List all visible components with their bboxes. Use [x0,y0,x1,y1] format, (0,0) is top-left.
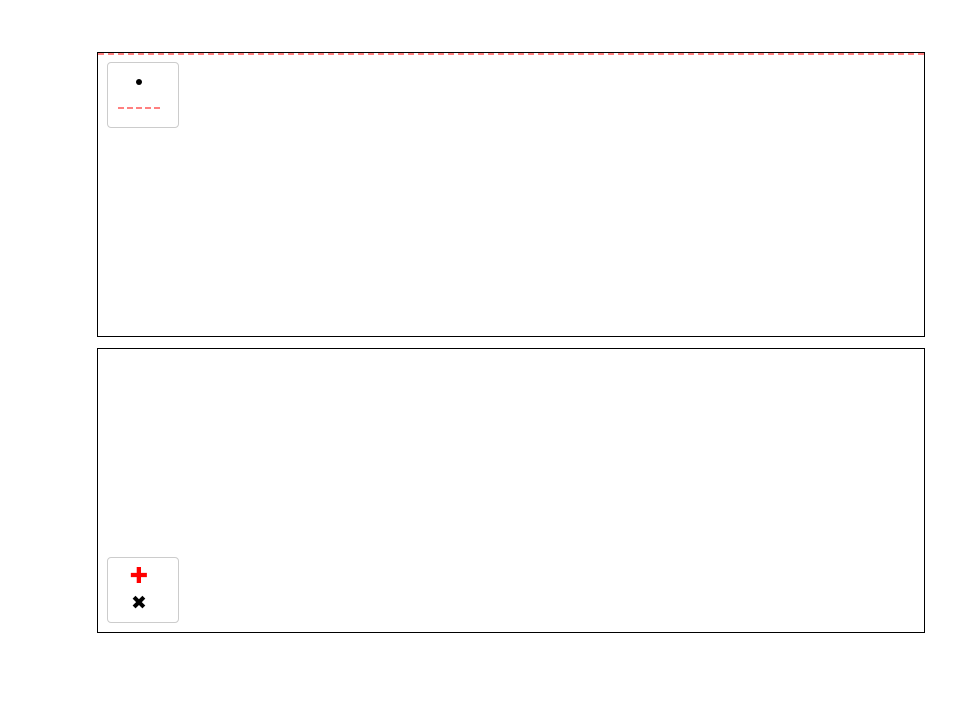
dot-marker-icon [116,71,162,93]
top-panel-plot-area [98,53,924,336]
cross-marker-icon: ✖ [116,592,162,614]
legend-item-measurements[interactable] [116,69,168,95]
legend-item-threshold[interactable] [116,95,168,121]
dashed-line-icon [116,97,162,119]
threshold-line [98,53,924,55]
matplotlib-figure: ✚ ✖ [0,0,960,720]
plus-marker-icon: ✚ [116,566,162,588]
legend-item-matched-stars[interactable]: ✚ [116,564,168,590]
legend-item-predicted-stars[interactable]: ✖ [116,590,168,616]
top-panel-axes [97,52,925,337]
bottom-panel-plot-area [98,349,924,632]
bottom-panel-legend: ✚ ✖ [107,557,179,623]
top-panel-legend [107,62,179,128]
bottom-panel-axes: ✚ ✖ [97,348,925,633]
